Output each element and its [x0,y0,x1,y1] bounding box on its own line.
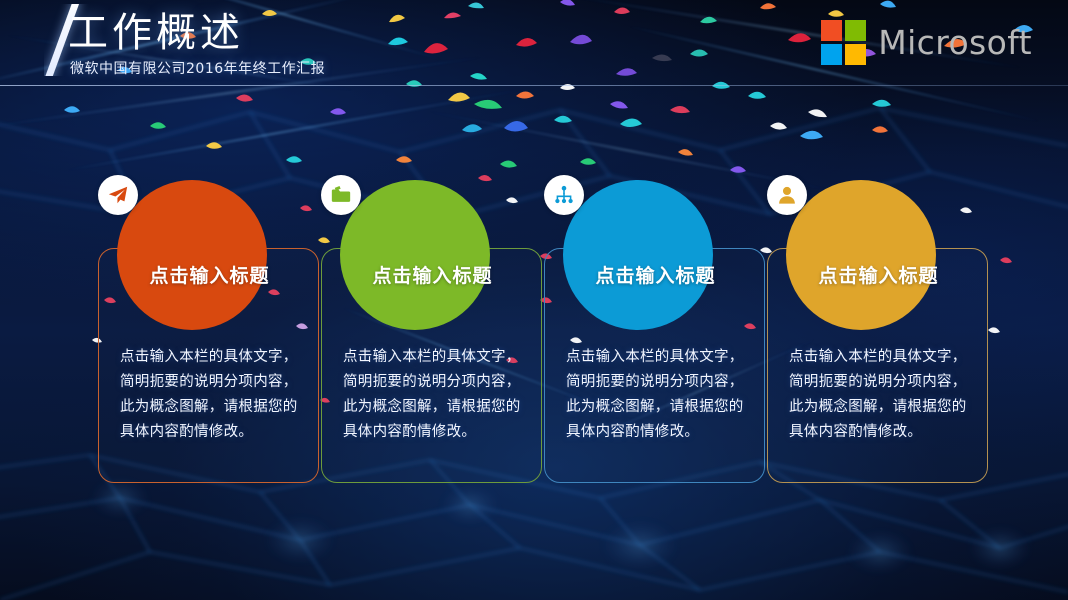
card-body-1: 点击输入本栏的具体文字，简明扼要的说明分项内容，此为概念图解，请根据您的具体内容… [120,345,306,445]
card-title-1: 点击输入标题 [98,264,321,288]
card-title-2: 点击输入标题 [321,264,544,288]
info-card-3[interactable]: 点击输入标题 点击输入本栏的具体文字，简明扼要的说明分项内容，此为概念图解，请根… [544,180,767,485]
paper-plane-icon [98,175,138,215]
card-body-4: 点击输入本栏的具体文字，简明扼要的说明分项内容，此为概念图解，请根据您的具体内容… [789,345,975,445]
card-body-2: 点击输入本栏的具体文字，简明扼要的说明分项内容，此为概念图解，请根据您的具体内容… [343,345,529,445]
card-circle-4 [786,180,936,330]
card-circle-3 [563,180,713,330]
card-circle-2 [340,180,490,330]
card-row: 点击输入标题 点击输入本栏的具体文字，简明扼要的说明分项内容，此为概念图解，请根… [0,0,1068,600]
card-body-3: 点击输入本栏的具体文字，简明扼要的说明分项内容，此为概念图解，请根据您的具体内容… [566,345,752,445]
info-card-2[interactable]: 点击输入标题 点击输入本栏的具体文字，简明扼要的说明分项内容，此为概念图解，请根… [321,180,544,485]
folder-icon [321,175,361,215]
card-title-3: 点击输入标题 [544,264,767,288]
card-title-4: 点击输入标题 [767,264,990,288]
card-circle-1 [117,180,267,330]
presentation-slide: 工作概述 微软中国有限公司2016年年终工作汇报 Microsoft 点击输入标 [0,0,1068,600]
info-card-1[interactable]: 点击输入标题 点击输入本栏的具体文字，简明扼要的说明分项内容，此为概念图解，请根… [98,180,321,485]
info-card-4[interactable]: 点击输入标题 点击输入本栏的具体文字，简明扼要的说明分项内容，此为概念图解，请根… [767,180,990,485]
user-icon [767,175,807,215]
hierarchy-icon [544,175,584,215]
